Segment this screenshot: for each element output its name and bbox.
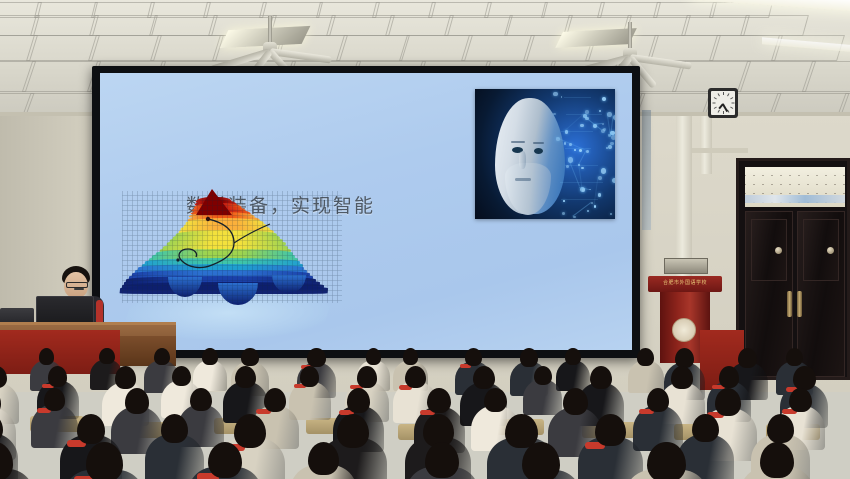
student-head — [86, 442, 123, 479]
student-head — [234, 414, 266, 448]
neural-node — [563, 200, 565, 202]
clock-tick — [718, 110, 720, 113]
student-head — [767, 414, 794, 443]
student-head — [692, 414, 719, 442]
student-head — [405, 366, 426, 388]
student-head — [647, 442, 685, 479]
student-head — [465, 348, 482, 366]
student-head — [484, 388, 507, 412]
circuit-trace — [561, 131, 593, 132]
circuit-trace — [566, 114, 602, 115]
neural-node — [599, 110, 601, 112]
circuit-trace — [565, 165, 598, 166]
student-head — [427, 388, 451, 413]
ceiling-fan-right — [560, 22, 700, 72]
wall-trim — [692, 148, 748, 153]
wall-pillar — [700, 112, 712, 174]
neural-node — [589, 189, 591, 191]
student-head — [473, 366, 495, 389]
door-knob[interactable] — [827, 247, 834, 254]
student-head — [366, 348, 382, 365]
student-head — [357, 366, 377, 388]
neural-node — [553, 92, 557, 96]
clock-face — [711, 91, 735, 115]
circuit-trace — [565, 148, 592, 149]
circuit-trace — [560, 182, 603, 183]
clock-tick — [732, 103, 735, 104]
student-head — [520, 348, 538, 367]
clock-tick — [714, 107, 717, 109]
student-head — [403, 348, 419, 365]
ceiling-tile — [89, 15, 158, 36]
fan-rod — [268, 16, 272, 44]
slide-content: 数学装备，实现智能 — [100, 73, 632, 350]
neural-node — [606, 147, 608, 149]
student-head — [793, 366, 816, 390]
presenter-headset-mic — [74, 288, 84, 290]
ceiling-fan-left — [200, 16, 340, 66]
clock-tick — [723, 92, 724, 95]
student-head — [715, 388, 742, 416]
neural-node — [602, 97, 606, 101]
android-brow — [533, 142, 544, 144]
loss-landscape-surface — [122, 191, 342, 343]
student-head — [590, 366, 612, 389]
ai-humanoid-head-image — [475, 89, 615, 219]
student-head — [307, 348, 325, 367]
lectern-equipment-box — [664, 258, 708, 274]
student-head — [337, 414, 369, 448]
clock-tick — [723, 111, 724, 114]
student-head — [425, 442, 459, 478]
android-eye — [534, 148, 543, 154]
neural-node — [581, 167, 583, 169]
student-head — [647, 388, 670, 412]
student-head — [522, 442, 560, 479]
neural-node — [598, 193, 601, 196]
student-head — [190, 388, 212, 411]
student-head — [300, 366, 320, 387]
neural-network-overlay — [553, 89, 615, 219]
student-head — [637, 348, 654, 366]
neural-node — [610, 213, 612, 215]
neural-node — [564, 142, 566, 144]
student-head — [264, 388, 286, 412]
student-audience — [0, 330, 850, 479]
student-head — [115, 366, 137, 389]
student-head — [48, 366, 67, 387]
clock-tick — [713, 103, 716, 104]
student-head — [760, 442, 794, 478]
student-head — [99, 348, 114, 364]
neural-edge — [564, 114, 583, 131]
ceiling-tile — [444, 15, 513, 36]
clock-tick — [730, 97, 733, 99]
student-head — [738, 348, 757, 368]
clock-tick — [714, 97, 717, 99]
projection-screen: 数学装备，实现智能 — [92, 66, 640, 358]
neural-node — [611, 135, 615, 140]
neural-edge — [578, 150, 586, 165]
student-head — [235, 366, 256, 388]
fan-rod — [628, 22, 632, 50]
student-head — [563, 388, 588, 415]
student-head — [789, 388, 812, 412]
android-mouth — [515, 178, 531, 181]
student-head — [719, 366, 740, 388]
circuit-trace — [564, 97, 590, 98]
neural-node — [587, 210, 589, 212]
student-head — [595, 414, 626, 446]
lecture-hall-photo: 数学装备，实现智能 — [0, 0, 850, 479]
student-head — [125, 388, 149, 414]
student-head — [308, 442, 339, 475]
student-head — [77, 414, 106, 444]
student-head — [347, 388, 370, 413]
wall-clock — [708, 88, 738, 118]
clock-tick — [727, 93, 729, 96]
door-handle[interactable] — [787, 291, 792, 317]
student-head — [154, 348, 170, 365]
neural-node — [601, 168, 606, 173]
neural-edge — [593, 123, 602, 125]
neural-node — [612, 178, 615, 183]
neural-node — [562, 212, 565, 215]
gradient-descent-path — [122, 191, 342, 303]
student-head — [172, 366, 191, 386]
student-head — [534, 366, 552, 385]
student-head — [786, 348, 803, 366]
student-head — [44, 388, 66, 411]
student-head — [565, 348, 581, 365]
door-handle[interactable] — [797, 291, 802, 317]
student-head — [675, 348, 694, 368]
student-head — [161, 414, 188, 443]
circuit-trace — [561, 199, 598, 200]
neural-edge — [593, 176, 598, 205]
student-head — [202, 348, 218, 365]
neural-node — [553, 113, 556, 116]
student-head — [208, 442, 242, 478]
student-head — [671, 366, 692, 389]
door-transom-window — [745, 167, 845, 207]
side-window — [642, 110, 651, 230]
ceiling-tile — [740, 15, 809, 36]
lectern-sign-text: 合肥市外国语学校 — [652, 279, 718, 286]
student-head — [39, 348, 55, 365]
android-nose — [519, 151, 526, 169]
neural-node — [601, 129, 605, 133]
door-knob[interactable] — [775, 247, 782, 254]
neural-node — [574, 149, 576, 151]
student-head — [241, 348, 258, 366]
clock-tick — [730, 107, 733, 109]
neural-node — [608, 145, 613, 150]
neural-node — [561, 96, 563, 98]
transom-reflection — [745, 195, 845, 203]
android-brow — [511, 141, 525, 143]
clock-tick — [718, 93, 720, 96]
neural-node — [580, 124, 584, 128]
